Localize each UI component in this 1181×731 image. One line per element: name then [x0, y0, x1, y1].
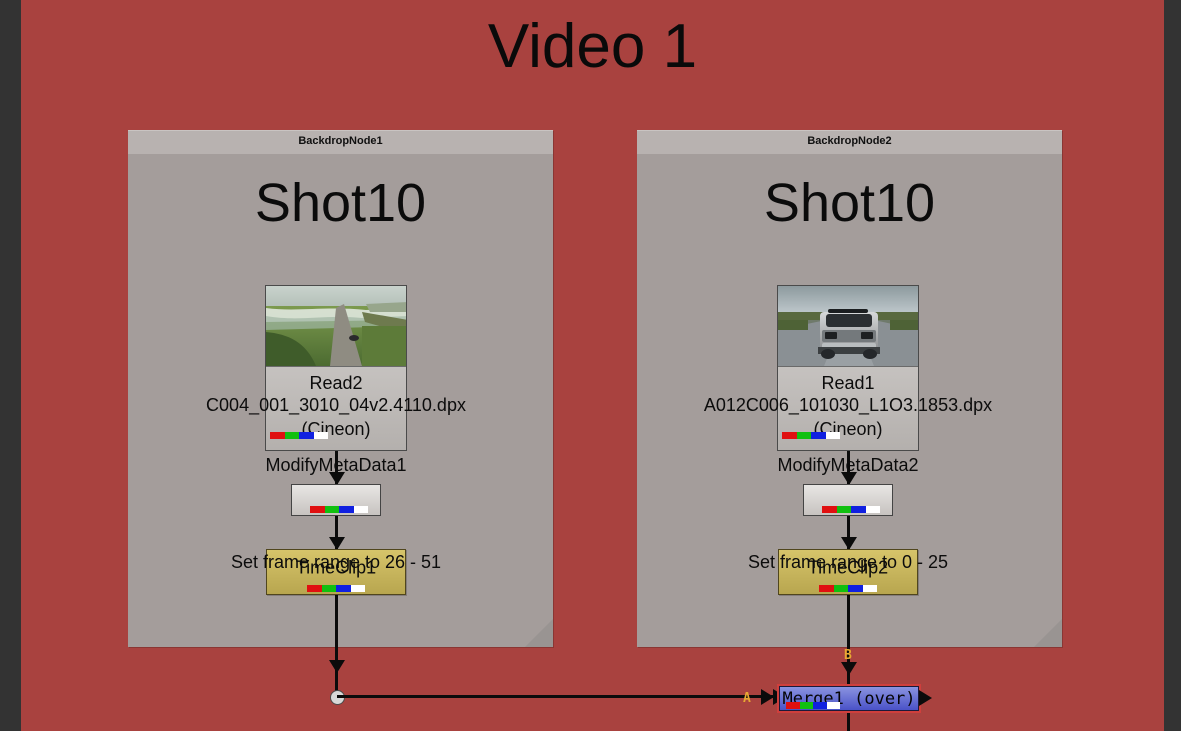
channel-red	[782, 432, 797, 439]
backdrop-node-2-label: Shot10	[637, 176, 1062, 230]
channel-red	[307, 585, 322, 592]
channel-blue	[811, 432, 826, 439]
channel-red	[786, 702, 800, 709]
node-merge1[interactable]: Merge1 (over)	[779, 686, 919, 711]
node-timeclip1-channel-bar	[307, 585, 365, 592]
node-timeclip1[interactable]: TimeClip1	[266, 549, 406, 595]
node-read1-body: Read1 (Cineon)	[778, 367, 918, 441]
channel-green	[837, 506, 852, 513]
connection-timeclip1-to-merge	[335, 594, 338, 693]
connection-merge-output	[847, 710, 850, 731]
node-read2-name: Read2	[266, 373, 406, 394]
channel-alpha	[863, 585, 878, 592]
channel-green	[797, 432, 812, 439]
channel-blue	[336, 585, 351, 592]
node-read1-name: Read1	[778, 373, 918, 394]
node-merge1-output-arrow	[919, 690, 932, 706]
node-modifymetadata2[interactable]	[803, 484, 893, 516]
channel-red	[822, 506, 837, 513]
coastal-road-aerial-thumbnail	[266, 286, 406, 366]
channel-alpha	[827, 702, 841, 709]
channel-red	[819, 585, 834, 592]
channel-blue	[848, 585, 863, 592]
channel-blue	[299, 432, 314, 439]
channel-alpha	[866, 506, 881, 513]
channel-blue	[339, 506, 354, 513]
merge-input-b-label: B	[844, 648, 852, 663]
channel-alpha	[314, 432, 329, 439]
backdrop-node-2-header[interactable]: BackdropNode2	[637, 130, 1062, 154]
node-read1-thumbnail	[778, 286, 918, 367]
node-modifymetadata2-channel-bar	[822, 506, 880, 513]
node-modifymetadata1-channel-bar	[310, 506, 368, 513]
node-merge1-channel-bar	[786, 702, 840, 709]
node-read1-channel-bar	[782, 432, 840, 439]
channel-green	[322, 585, 337, 592]
channel-green	[834, 585, 849, 592]
connection-merge-b-arrowhead	[841, 662, 857, 675]
channel-alpha	[354, 506, 369, 513]
merge-input-a-label: A	[743, 691, 751, 706]
node-modifymetadata1[interactable]	[291, 484, 381, 516]
channel-green	[325, 506, 340, 513]
page-title: Video 1	[21, 16, 1164, 78]
channel-alpha	[351, 585, 366, 592]
backdrop-node-1-header[interactable]: BackdropNode1	[128, 130, 553, 154]
node-read2-thumbnail	[266, 286, 406, 367]
node-read2[interactable]: Read2 (Cineon)	[265, 285, 407, 451]
backdrop-node-1-resize-handle[interactable]	[525, 619, 553, 647]
backdrop-node-2-title: BackdropNode2	[637, 135, 1062, 147]
node-read2-channel-bar	[270, 432, 328, 439]
node-timeclip2-channel-bar	[819, 585, 877, 592]
backdrop-node-1-title: BackdropNode1	[128, 135, 553, 147]
node-read1[interactable]: Read1 (Cineon)	[777, 285, 919, 451]
channel-green	[800, 702, 814, 709]
channel-blue	[813, 702, 827, 709]
node-timeclip2-name: TimeClip2	[808, 557, 888, 578]
left-edge-strip	[0, 0, 21, 731]
channel-green	[285, 432, 300, 439]
node-graph-screen: Video 1 BackdropNode1 Shot10 BackdropNod…	[0, 0, 1181, 731]
channel-red	[270, 432, 285, 439]
silver-suv-on-road-thumbnail	[778, 286, 918, 366]
backdrop-node-1-label: Shot10	[128, 176, 553, 230]
node-timeclip2[interactable]: TimeClip2	[778, 549, 918, 595]
connection-elbow-to-merge-a	[337, 695, 783, 698]
channel-alpha	[826, 432, 841, 439]
right-edge-strip	[1164, 0, 1181, 731]
channel-blue	[851, 506, 866, 513]
node-timeclip1-name: TimeClip1	[296, 557, 376, 578]
connection-timeclip1-arrowhead	[329, 660, 345, 673]
backdrop-node-2-resize-handle[interactable]	[1034, 619, 1062, 647]
node-graph-canvas[interactable]: Video 1 BackdropNode1 Shot10 BackdropNod…	[21, 0, 1164, 731]
channel-red	[310, 506, 325, 513]
node-read2-body: Read2 (Cineon)	[266, 367, 406, 441]
